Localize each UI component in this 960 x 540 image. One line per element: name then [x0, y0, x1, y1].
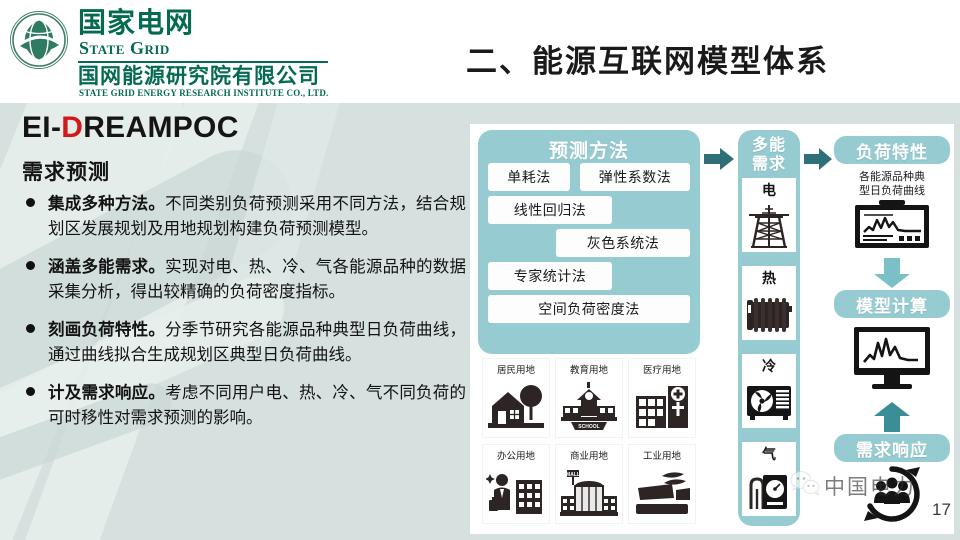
- load-characteristics-title: 负荷特性: [834, 136, 950, 164]
- arrow-methods-to-demand-icon: [704, 148, 734, 175]
- demand-label: 热: [762, 268, 776, 288]
- logo-company-en: State Grid: [79, 38, 170, 58]
- page-title: 二、能源互联网模型体系: [466, 36, 829, 81]
- arrow-load-to-model-icon: [874, 258, 910, 293]
- company-logo: 国家电网 State Grid 国网能源研究院有限公司 STATE GRID E…: [8, 4, 338, 100]
- brand-prefix: EI-: [22, 111, 61, 144]
- landuse-cell-office: 办公用地: [482, 444, 550, 524]
- model-calculation-card: [834, 320, 950, 400]
- bullet-list: 集成多种方法。不同类别负荷预测采用不同方法，结合规划区发展规划及用地规划构建负荷…: [18, 191, 466, 443]
- method-box: 弹性系数法: [580, 163, 690, 191]
- list-item: 涵盖多能需求。实现对电、热、冷、气各能源品种的数据采集分析，得出较精确的负荷密度…: [18, 254, 466, 304]
- landuse-icon-grid: 居民用地 教育用地: [478, 358, 700, 526]
- landuse-label: 办公用地: [497, 448, 535, 462]
- brand-rest: REAMPOC: [83, 111, 238, 144]
- svg-text:SCHOOL: SCHOOL: [578, 424, 599, 430]
- bullet-lead: 计及需求响应。: [48, 383, 165, 402]
- methods-panel-title: 预测方法: [478, 136, 700, 163]
- bullet-lead: 涵盖多能需求。: [48, 257, 165, 276]
- power-tower-icon: [745, 200, 793, 252]
- arrow-response-to-model-icon: [874, 402, 910, 437]
- logo-institute-cn: 国网能源研究院有限公司: [78, 64, 320, 88]
- method-box: 灰色系统法: [556, 229, 690, 257]
- demand-title-line2: 需求: [752, 154, 786, 173]
- bullet-lead: 刻画负荷特性。: [48, 320, 165, 339]
- landuse-label: 工业用地: [643, 448, 681, 462]
- demand-panel-title: 多能 需求: [738, 135, 800, 173]
- slide-root: 国家电网 State Grid 国网能源研究院有限公司 STATE GRID E…: [0, 0, 960, 540]
- demand-label: 气: [762, 444, 776, 464]
- landuse-label: 商业用地: [570, 448, 608, 462]
- demand-title-line1: 多能: [752, 135, 786, 154]
- landuse-cell-industrial: 工业用地: [628, 444, 696, 524]
- landuse-label: 医疗用地: [643, 362, 681, 376]
- load-characteristics-subtitle: 各能源品种典 型日负荷曲线: [859, 167, 925, 198]
- left-content-column: EI-DREAMPOC 需求预测 集成多种方法。不同类别负荷预测采用不同方法，结…: [0, 103, 466, 540]
- wechat-icon: [790, 470, 820, 501]
- model-calculation-title: 模型计算: [834, 290, 950, 318]
- multi-energy-demand-panel: 多能 需求 电: [738, 130, 800, 526]
- watermark-text: 中国电力: [824, 471, 916, 501]
- monitor-chart-icon: [850, 325, 934, 396]
- section-title: 需求预测: [22, 156, 110, 186]
- radiator-icon: [745, 288, 793, 340]
- landuse-label: 居民用地: [497, 362, 535, 376]
- list-item: 计及需求响应。考虑不同用户电、热、冷、气不同负荷的可时移性对需求预测的影响。: [18, 380, 466, 430]
- logo-divider: [78, 61, 328, 63]
- landuse-cell-education: 教育用地 SCHOOL: [555, 358, 623, 438]
- demand-cell-electricity: 电: [742, 178, 796, 252]
- bullet-dot-icon: [26, 261, 35, 270]
- landuse-cell-commercial: 商业用地 MALL: [555, 444, 623, 524]
- right-flow-column: 负荷特性 各能源品种典 型日负荷曲线: [834, 130, 950, 526]
- demand-label: 电: [762, 180, 776, 200]
- hospital-icon: [632, 376, 692, 437]
- office-worker-icon: [486, 462, 546, 523]
- brand-title: EI-DREAMPOC: [22, 111, 239, 145]
- bullet-dot-icon: [26, 387, 35, 396]
- list-item: 刻画负荷特性。分季节研究各能源品种典型日负荷曲线，通过曲线拟合生成规划区典型日负…: [18, 317, 466, 367]
- method-box: 线性回归法: [488, 196, 612, 224]
- method-box: 专家统计法: [488, 262, 612, 290]
- bullet-lead: 集成多种方法。: [48, 194, 165, 213]
- demand-response-title: 需求响应: [834, 434, 950, 462]
- air-conditioner-icon: [745, 376, 793, 428]
- school-icon: SCHOOL: [559, 376, 619, 437]
- method-box: 空间负荷密度法: [488, 295, 690, 323]
- slide-header: 国家电网 State Grid 国网能源研究院有限公司 STATE GRID E…: [0, 0, 960, 103]
- mall-icon: MALL: [559, 462, 619, 523]
- logo-institute-en: STATE GRID ENERGY RESEARCH INSTITUTE CO.…: [79, 88, 329, 99]
- bullet-dot-icon: [26, 324, 35, 333]
- demand-label: 冷: [762, 356, 776, 376]
- arrow-demand-to-load-icon: [804, 148, 832, 175]
- demand-cell-gas: 气: [742, 442, 796, 516]
- brand-accent-letter: D: [61, 111, 83, 144]
- page-number: 17: [932, 500, 951, 520]
- demand-cell-cooling: 冷: [742, 354, 796, 428]
- landuse-cell-medical: 医疗用地: [628, 358, 696, 438]
- wechat-watermark: 中国电力: [790, 470, 916, 501]
- house-tree-icon: [486, 376, 546, 437]
- method-box: 单耗法: [488, 163, 570, 191]
- demand-cell-heat: 热: [742, 266, 796, 340]
- factory-icon: [632, 462, 692, 523]
- bullet-dot-icon: [26, 198, 35, 207]
- state-grid-emblem: [8, 10, 70, 70]
- load-characteristics-card: 各能源品种典 型日负荷曲线: [834, 166, 950, 256]
- landuse-label: 教育用地: [570, 362, 608, 376]
- forecasting-methods-panel: 预测方法 单耗法 弹性系数法 线性回归法 灰色系统法 专家统计法 空间负荷密度法: [478, 130, 700, 354]
- logo-company-cn: 国家电网: [78, 8, 194, 38]
- gas-meter-icon: [745, 464, 793, 516]
- load-curve-board-icon: [853, 200, 931, 255]
- list-item: 集成多种方法。不同类别负荷预测采用不同方法，结合规划区发展规划及用地规划构建负荷…: [18, 191, 466, 241]
- landuse-cell-residential: 居民用地: [482, 358, 550, 438]
